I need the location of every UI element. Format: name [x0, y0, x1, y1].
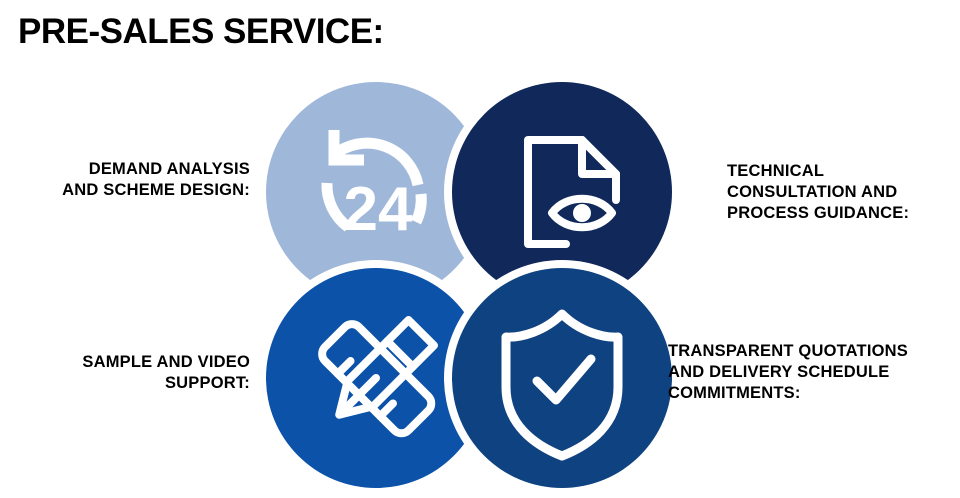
- label-transparent-quotations: TRANSPARENT QUOTATIONS AND DELIVERY SCHE…: [668, 341, 958, 404]
- page-title: PRE-SALES SERVICE:: [18, 12, 384, 52]
- 24-hour-label: 24: [344, 175, 413, 244]
- label-technical-consultation: TECHNICAL CONSULTATION AND PROCESS GUIDA…: [727, 161, 952, 224]
- segment-transparent-quotations[interactable]: [444, 260, 680, 496]
- four-circle-diagram: 24: [266, 82, 672, 488]
- label-sample-video-support: SAMPLE AND VIDEO SUPPORT:: [10, 352, 250, 394]
- label-demand-analysis: DEMAND ANALYSIS AND SCHEME DESIGN:: [10, 159, 250, 201]
